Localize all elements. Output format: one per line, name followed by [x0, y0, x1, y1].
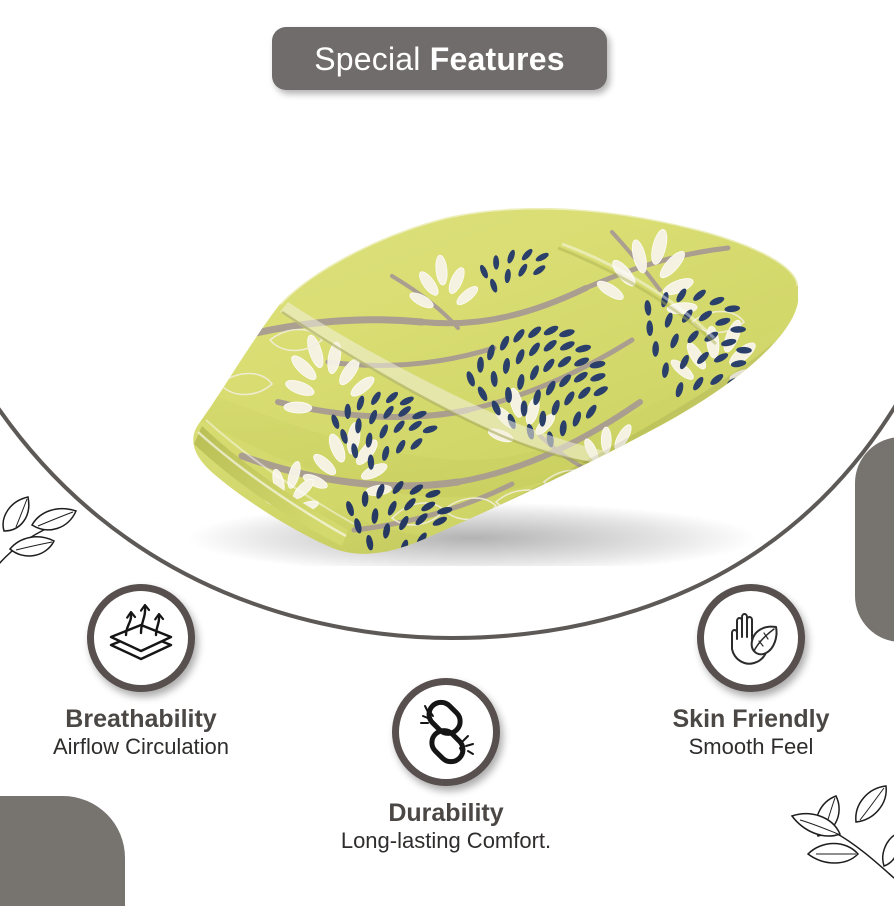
- feature-skin-friendly: Skin Friendly Smooth Feel: [611, 584, 891, 759]
- airflow-layers-icon: [87, 584, 195, 692]
- feature-title: Skin Friendly: [673, 706, 830, 732]
- leaf-sprig-bottom-right-icon: [790, 778, 894, 884]
- chain-link-icon: [392, 678, 500, 786]
- feature-durability: Durability Long-lasting Comfort.: [306, 678, 586, 853]
- feature-breathability: Breathability Airflow Circulation: [1, 584, 281, 759]
- product-image-folded-bed-sheet: [92, 126, 798, 566]
- header-banner: Special Features: [272, 27, 607, 90]
- page-title-light: Special: [314, 41, 420, 77]
- feature-title: Breathability: [65, 706, 216, 732]
- hand-leaf-icon: [697, 584, 805, 692]
- gray-corner-block-bottom-left: [0, 796, 125, 906]
- feature-subtitle: Long-lasting Comfort.: [341, 829, 551, 853]
- feature-subtitle: Airflow Circulation: [53, 735, 229, 759]
- page-title: Special Features: [314, 43, 564, 75]
- infographic-canvas: Breathability Airflow Circulation: [0, 0, 894, 894]
- feature-subtitle: Smooth Feel: [689, 735, 814, 759]
- page-title-bold: Features: [430, 41, 565, 77]
- feature-title: Durability: [388, 800, 503, 826]
- leaf-sprig-left-icon: [0, 487, 86, 579]
